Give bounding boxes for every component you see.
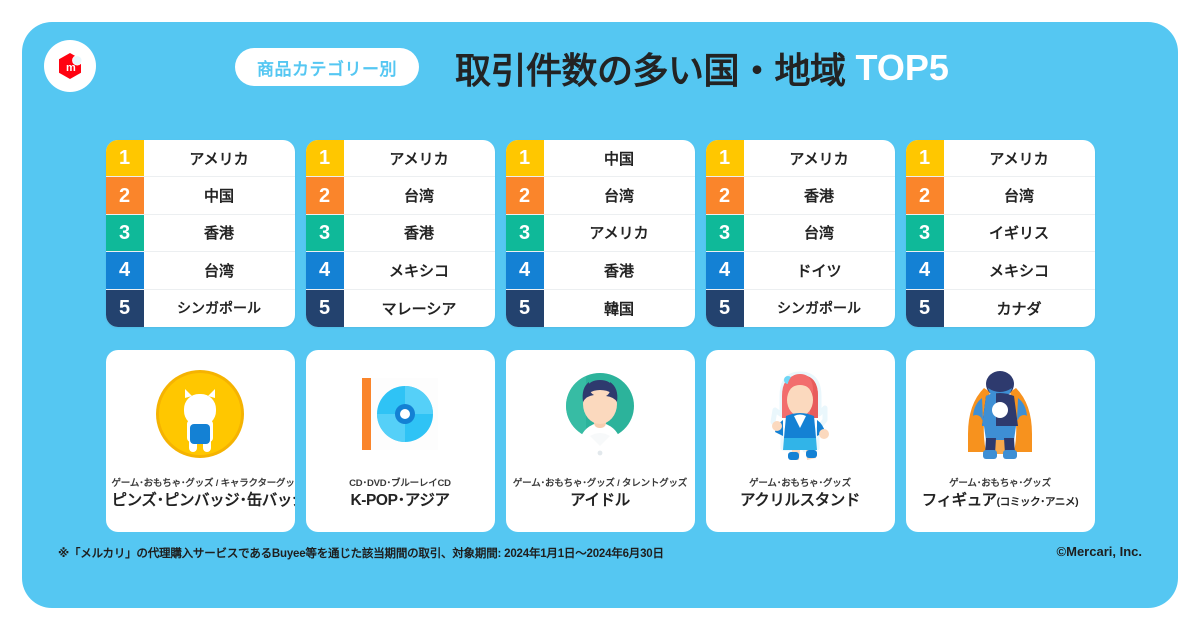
rank-row: 3 アメリカ <box>506 215 695 252</box>
copyright: ©Mercari, Inc. <box>1057 544 1142 559</box>
rank-country: シンガポール <box>144 290 295 327</box>
category-title: ピンズ･ピンバッジ･缶バッジ <box>112 492 289 510</box>
rank-number: 1 <box>906 140 944 176</box>
rank-row: 4 台湾 <box>106 252 295 289</box>
category-caption: ゲーム･おもちゃ･グッズ / キャラクターグッズ ピンズ･ピンバッジ･缶バッジ <box>106 478 295 520</box>
rank-row: 2 台湾 <box>906 177 1095 214</box>
rank-country: アメリカ <box>744 140 895 176</box>
category-subtitle: CD･DVD･ブルーレイCD <box>312 478 489 489</box>
rank-number: 4 <box>106 252 144 288</box>
category-card-figure: ゲーム･おもちゃ･グッズ フィギュア(コミック･アニメ) <box>906 350 1095 532</box>
rank-number: 5 <box>106 290 144 327</box>
rank-country: 香港 <box>344 215 495 251</box>
rank-row: 3 台湾 <box>706 215 895 252</box>
category-badge-label: 商品カテゴリー別 <box>257 55 397 80</box>
rank-row: 4 ドイツ <box>706 252 895 289</box>
rank-country: メキシコ <box>344 252 495 288</box>
category-caption: CD･DVD･ブルーレイCD K-POP･アジア <box>306 478 495 520</box>
rank-row: 2 香港 <box>706 177 895 214</box>
rank-row: 3 イギリス <box>906 215 1095 252</box>
rank-row: 1 中国 <box>506 140 695 177</box>
category-caption: ゲーム･おもちゃ･グッズ / タレントグッズ アイドル <box>506 478 695 520</box>
ranking-card-acrylic: 1 アメリカ 2 香港 3 台湾 4 ドイツ 5 シンガポール <box>706 140 895 327</box>
rank-country: 台湾 <box>344 177 495 213</box>
rank-country: 中国 <box>544 140 695 176</box>
category-title: フィギュア(コミック･アニメ) <box>912 492 1089 510</box>
rank-country: シンガポール <box>744 290 895 327</box>
category-subtitle: ゲーム･おもちゃ･グッズ / タレントグッズ <box>512 478 689 489</box>
rank-number: 2 <box>306 177 344 213</box>
category-caption: ゲーム･おもちゃ･グッズ フィギュア(コミック･アニメ) <box>906 478 1095 520</box>
infographic-root: m 商品カテゴリー別 取引件数の多い国・地域 TOP5 1 アメリカ 2 中国 … <box>0 0 1200 630</box>
rank-number: 3 <box>106 215 144 251</box>
rank-row: 1 アメリカ <box>906 140 1095 177</box>
category-card-kpop: CD･DVD･ブルーレイCD K-POP･アジア <box>306 350 495 532</box>
page-title-main: 取引件数の多い国・地域 <box>455 42 846 94</box>
ranking-card-idol: 1 中国 2 台湾 3 アメリカ 4 香港 5 韓国 <box>506 140 695 327</box>
rank-number: 5 <box>506 290 544 327</box>
rank-country: ドイツ <box>744 252 895 288</box>
rank-country: 香港 <box>144 215 295 251</box>
rank-number: 5 <box>306 290 344 327</box>
rank-country: 香港 <box>544 252 695 288</box>
category-title-text: アクリルスタンド <box>740 492 860 509</box>
rank-country: カナダ <box>944 290 1095 327</box>
rank-row: 3 香港 <box>106 215 295 252</box>
category-title: K-POP･アジア <box>312 492 489 510</box>
rank-number: 2 <box>906 177 944 213</box>
rank-row: 3 香港 <box>306 215 495 252</box>
rank-country: 韓国 <box>544 290 695 327</box>
rank-row: 4 香港 <box>506 252 695 289</box>
rank-row: 5 韓国 <box>506 290 695 327</box>
rank-row: 5 シンガポール <box>706 290 895 327</box>
category-row: ゲーム･おもちゃ･グッズ / キャラクターグッズ ピンズ･ピンバッジ･缶バッジ <box>0 350 1200 532</box>
header: m 商品カテゴリー別 取引件数の多い国・地域 TOP5 <box>0 36 1200 100</box>
rank-row: 1 アメリカ <box>706 140 895 177</box>
rank-number: 3 <box>706 215 744 251</box>
category-subtitle: ゲーム･おもちゃ･グッズ <box>912 478 1089 489</box>
rank-country: アメリカ <box>344 140 495 176</box>
rank-row: 2 台湾 <box>506 177 695 214</box>
rank-country: 台湾 <box>544 177 695 213</box>
page-title: 取引件数の多い国・地域 TOP5 <box>455 36 949 100</box>
rank-number: 1 <box>306 140 344 176</box>
rank-number: 3 <box>906 215 944 251</box>
category-title: アイドル <box>512 492 689 510</box>
mercari-logo-icon: m <box>44 40 96 92</box>
rank-row: 5 カナダ <box>906 290 1095 327</box>
ranking-card-pins: 1 アメリカ 2 中国 3 香港 4 台湾 5 シンガポール <box>106 140 295 327</box>
rank-number: 2 <box>706 177 744 213</box>
rank-country: 香港 <box>744 177 895 213</box>
rank-country: 台湾 <box>944 177 1095 213</box>
rank-row: 2 台湾 <box>306 177 495 214</box>
svg-text:m: m <box>66 62 76 74</box>
rank-row: 1 アメリカ <box>306 140 495 177</box>
rank-number: 4 <box>706 252 744 288</box>
rank-row: 4 メキシコ <box>306 252 495 289</box>
category-card-acrylic: ゲーム･おもちゃ･グッズ アクリルスタンド <box>706 350 895 532</box>
rank-country: アメリカ <box>944 140 1095 176</box>
category-subtitle: ゲーム･おもちゃ･グッズ / キャラクターグッズ <box>112 478 289 489</box>
rank-number: 1 <box>106 140 144 176</box>
rank-number: 2 <box>506 177 544 213</box>
rank-country: アメリカ <box>544 215 695 251</box>
ranking-card-figure: 1 アメリカ 2 台湾 3 イギリス 4 メキシコ 5 カナダ <box>906 140 1095 327</box>
rank-country: イギリス <box>944 215 1095 251</box>
category-title-text: アイドル <box>570 492 630 509</box>
page-title-top5: TOP5 <box>856 47 949 89</box>
category-badge: 商品カテゴリー別 <box>235 48 419 86</box>
acrylic-stand-icon <box>706 350 895 478</box>
category-title-text: フィギュア <box>922 492 997 509</box>
rank-row: 2 中国 <box>106 177 295 214</box>
rank-number: 1 <box>506 140 544 176</box>
rank-country: 中国 <box>144 177 295 213</box>
rank-row: 4 メキシコ <box>906 252 1095 289</box>
footnote: ※「メルカリ」の代理購入サービスであるBuyee等を通じた該当期間の取引、対象期… <box>58 545 664 561</box>
uchiwa-fan-icon <box>506 350 695 478</box>
rank-number: 2 <box>106 177 144 213</box>
category-card-idol: ゲーム･おもちゃ･グッズ / タレントグッズ アイドル <box>506 350 695 532</box>
category-title-paren: (コミック･アニメ) <box>997 496 1079 508</box>
can-badge-icon <box>106 350 295 478</box>
category-subtitle: ゲーム･おもちゃ･グッズ <box>712 478 889 489</box>
rank-number: 4 <box>906 252 944 288</box>
ranking-row: 1 アメリカ 2 中国 3 香港 4 台湾 5 シンガポール 1 <box>0 140 1200 327</box>
rank-number: 3 <box>306 215 344 251</box>
rank-number: 1 <box>706 140 744 176</box>
rank-country: メキシコ <box>944 252 1095 288</box>
category-title: アクリルスタンド <box>712 492 889 510</box>
rank-row: 1 アメリカ <box>106 140 295 177</box>
rank-country: 台湾 <box>744 215 895 251</box>
category-card-pins: ゲーム･おもちゃ･グッズ / キャラクターグッズ ピンズ･ピンバッジ･缶バッジ <box>106 350 295 532</box>
rank-country: 台湾 <box>144 252 295 288</box>
rank-number: 3 <box>506 215 544 251</box>
rank-row: 5 マレーシア <box>306 290 495 327</box>
rank-country: マレーシア <box>344 290 495 327</box>
category-title-text: K-POP･アジア <box>350 492 449 509</box>
rank-number: 5 <box>706 290 744 327</box>
rank-row: 5 シンガポール <box>106 290 295 327</box>
rank-number: 4 <box>506 252 544 288</box>
hero-figure-icon <box>906 350 1095 478</box>
rank-number: 5 <box>906 290 944 327</box>
category-title-text: ピンズ･ピンバッジ･缶バッジ <box>112 492 295 509</box>
category-caption: ゲーム･おもちゃ･グッズ アクリルスタンド <box>706 478 895 520</box>
rank-country: アメリカ <box>144 140 295 176</box>
rank-number: 4 <box>306 252 344 288</box>
cd-case-icon <box>306 350 495 478</box>
ranking-card-kpop: 1 アメリカ 2 台湾 3 香港 4 メキシコ 5 マレーシア <box>306 140 495 327</box>
